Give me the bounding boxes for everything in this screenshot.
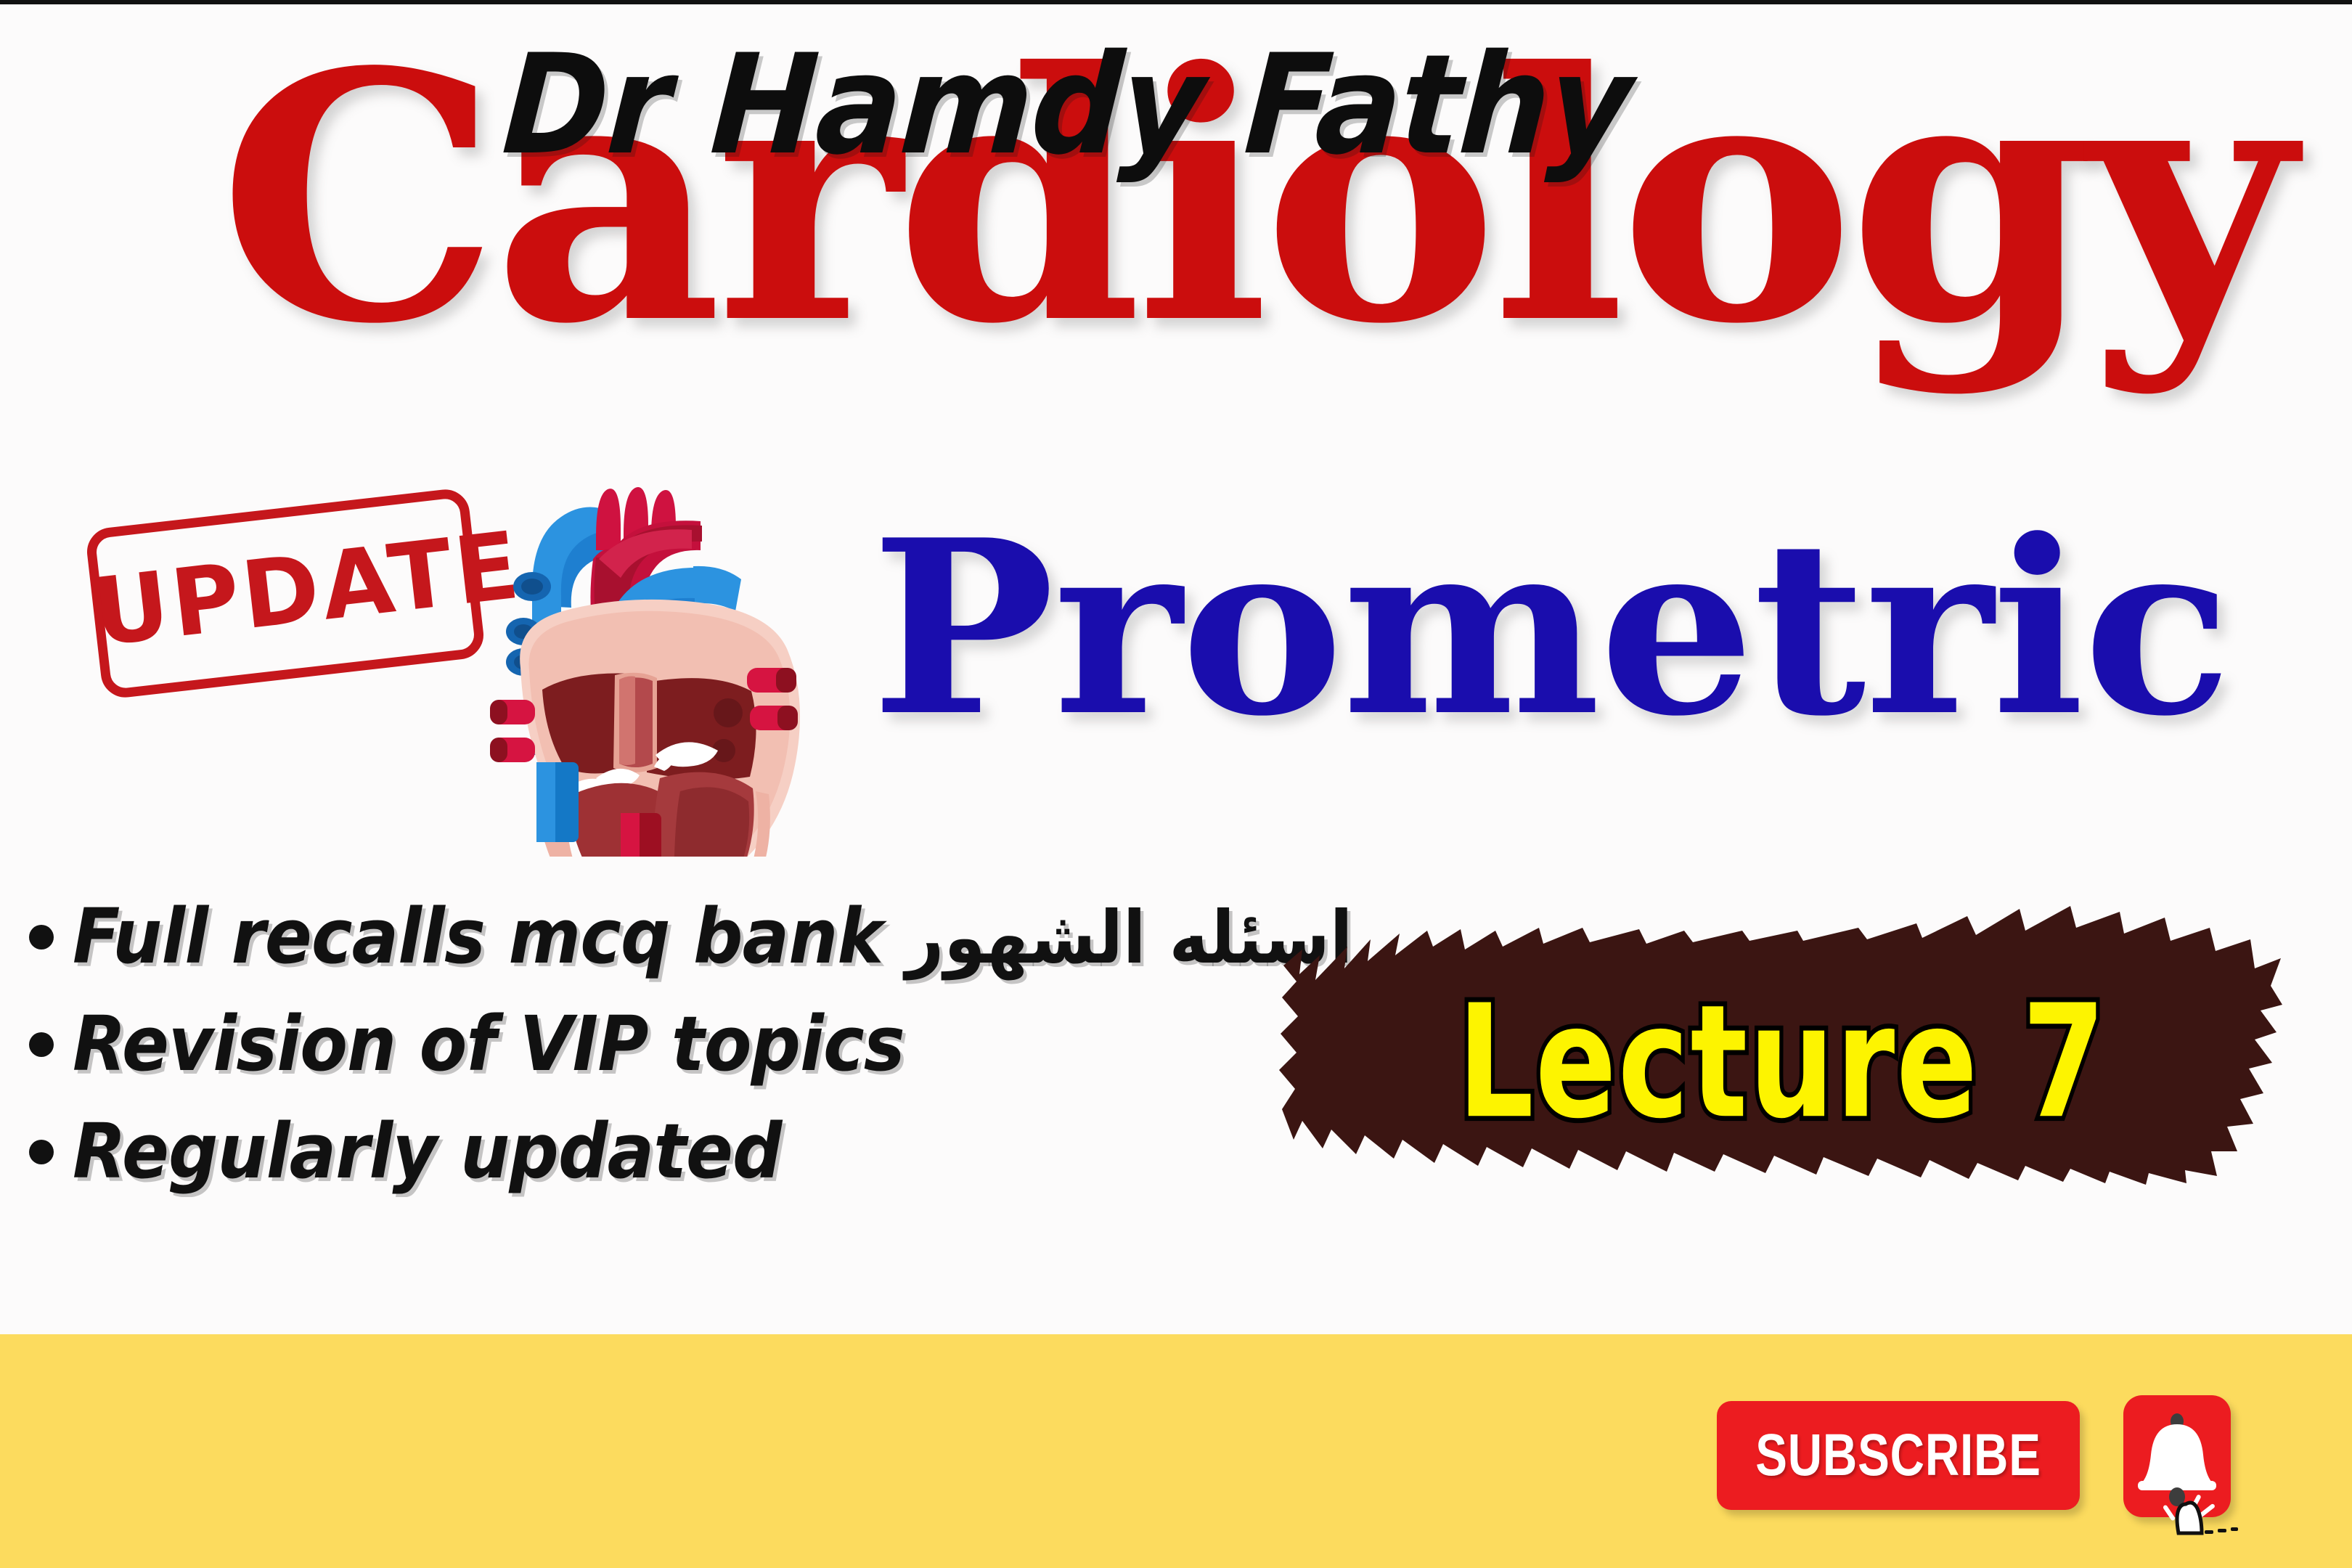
- letterbox-top-bar: [0, 0, 2352, 4]
- lecture-badge-label: Lecture 7: [1298, 984, 2266, 1140]
- feature-label-2: Revision of VIP topics: [73, 1006, 905, 1082]
- poster-canvas: Cardiology Prometric UPDATE: [0, 0, 2352, 1568]
- feature-list: Full recalls mcq bankاسئله الشهور Revisi…: [29, 899, 1336, 1221]
- page-title-secondary: Prometric: [871, 508, 2231, 748]
- bullet-dot-icon: [29, 1140, 54, 1164]
- pointing-hand-icon: [2177, 1503, 2202, 1533]
- bullet-dot-icon: [29, 925, 54, 950]
- anatomical-heart-icon: [475, 450, 809, 857]
- feature-label-3: Regularly updated: [73, 1114, 782, 1189]
- notification-bell-button[interactable]: [2123, 1395, 2231, 1517]
- list-item: Revision of VIP topics: [29, 1006, 1336, 1082]
- list-item: Full recalls mcq bankاسئله الشهور: [29, 899, 1336, 974]
- feature-label-1: Full recalls mcq bankاسئله الشهور: [73, 899, 1352, 974]
- update-stamp-badge: UPDATE: [84, 487, 486, 700]
- presenter-name: Dr Hamdy Fathy: [499, 36, 1635, 174]
- subscribe-button-label: SUBSCRIBE: [1755, 1421, 2041, 1490]
- lecture-badge: Lecture 7: [1278, 899, 2287, 1185]
- subscribe-button[interactable]: SUBSCRIBE: [1717, 1401, 2080, 1510]
- list-item: Regularly updated: [29, 1114, 1336, 1189]
- bullet-dot-icon: [29, 1032, 54, 1057]
- title-card: Cardiology Prometric UPDATE: [0, 0, 2352, 1334]
